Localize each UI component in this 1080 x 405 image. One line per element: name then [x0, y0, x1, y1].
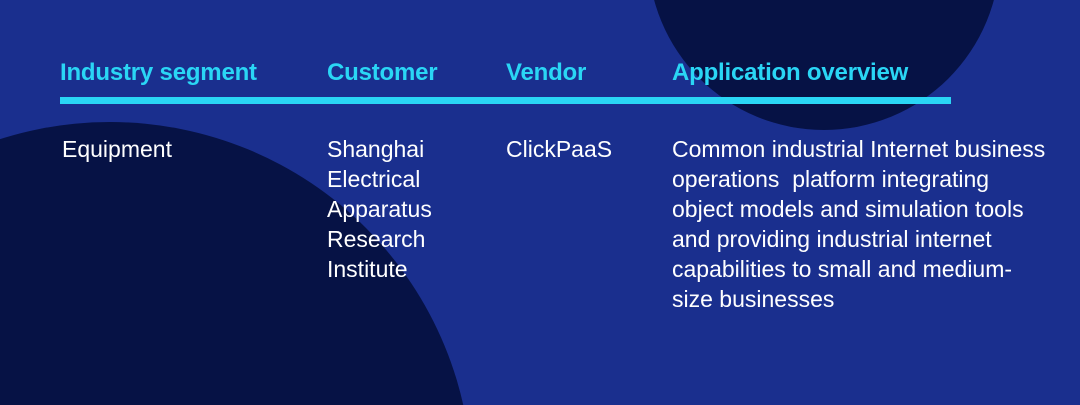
cell-vendor: ClickPaaS [506, 134, 666, 164]
cell-customer: Shanghai Electrical Apparatus Research I… [327, 134, 487, 284]
slide-canvas: Industry segment Customer Vendor Applica… [0, 0, 1080, 405]
application-overview-text: Common industrial Internet business oper… [672, 136, 1052, 312]
cell-industry-segment: Equipment [62, 134, 312, 164]
column-header-application-overview: Application overview [672, 58, 908, 88]
column-header-customer: Customer [327, 58, 437, 88]
header-underline-rule [60, 97, 951, 104]
cell-application-overview: Common industrial Internet business oper… [672, 134, 1050, 314]
column-header-vendor: Vendor [506, 58, 586, 88]
table-header-row: Industry segment Customer Vendor Applica… [60, 58, 960, 92]
column-header-industry-segment: Industry segment [60, 58, 257, 88]
comparison-table: Industry segment Customer Vendor Applica… [0, 0, 1080, 405]
